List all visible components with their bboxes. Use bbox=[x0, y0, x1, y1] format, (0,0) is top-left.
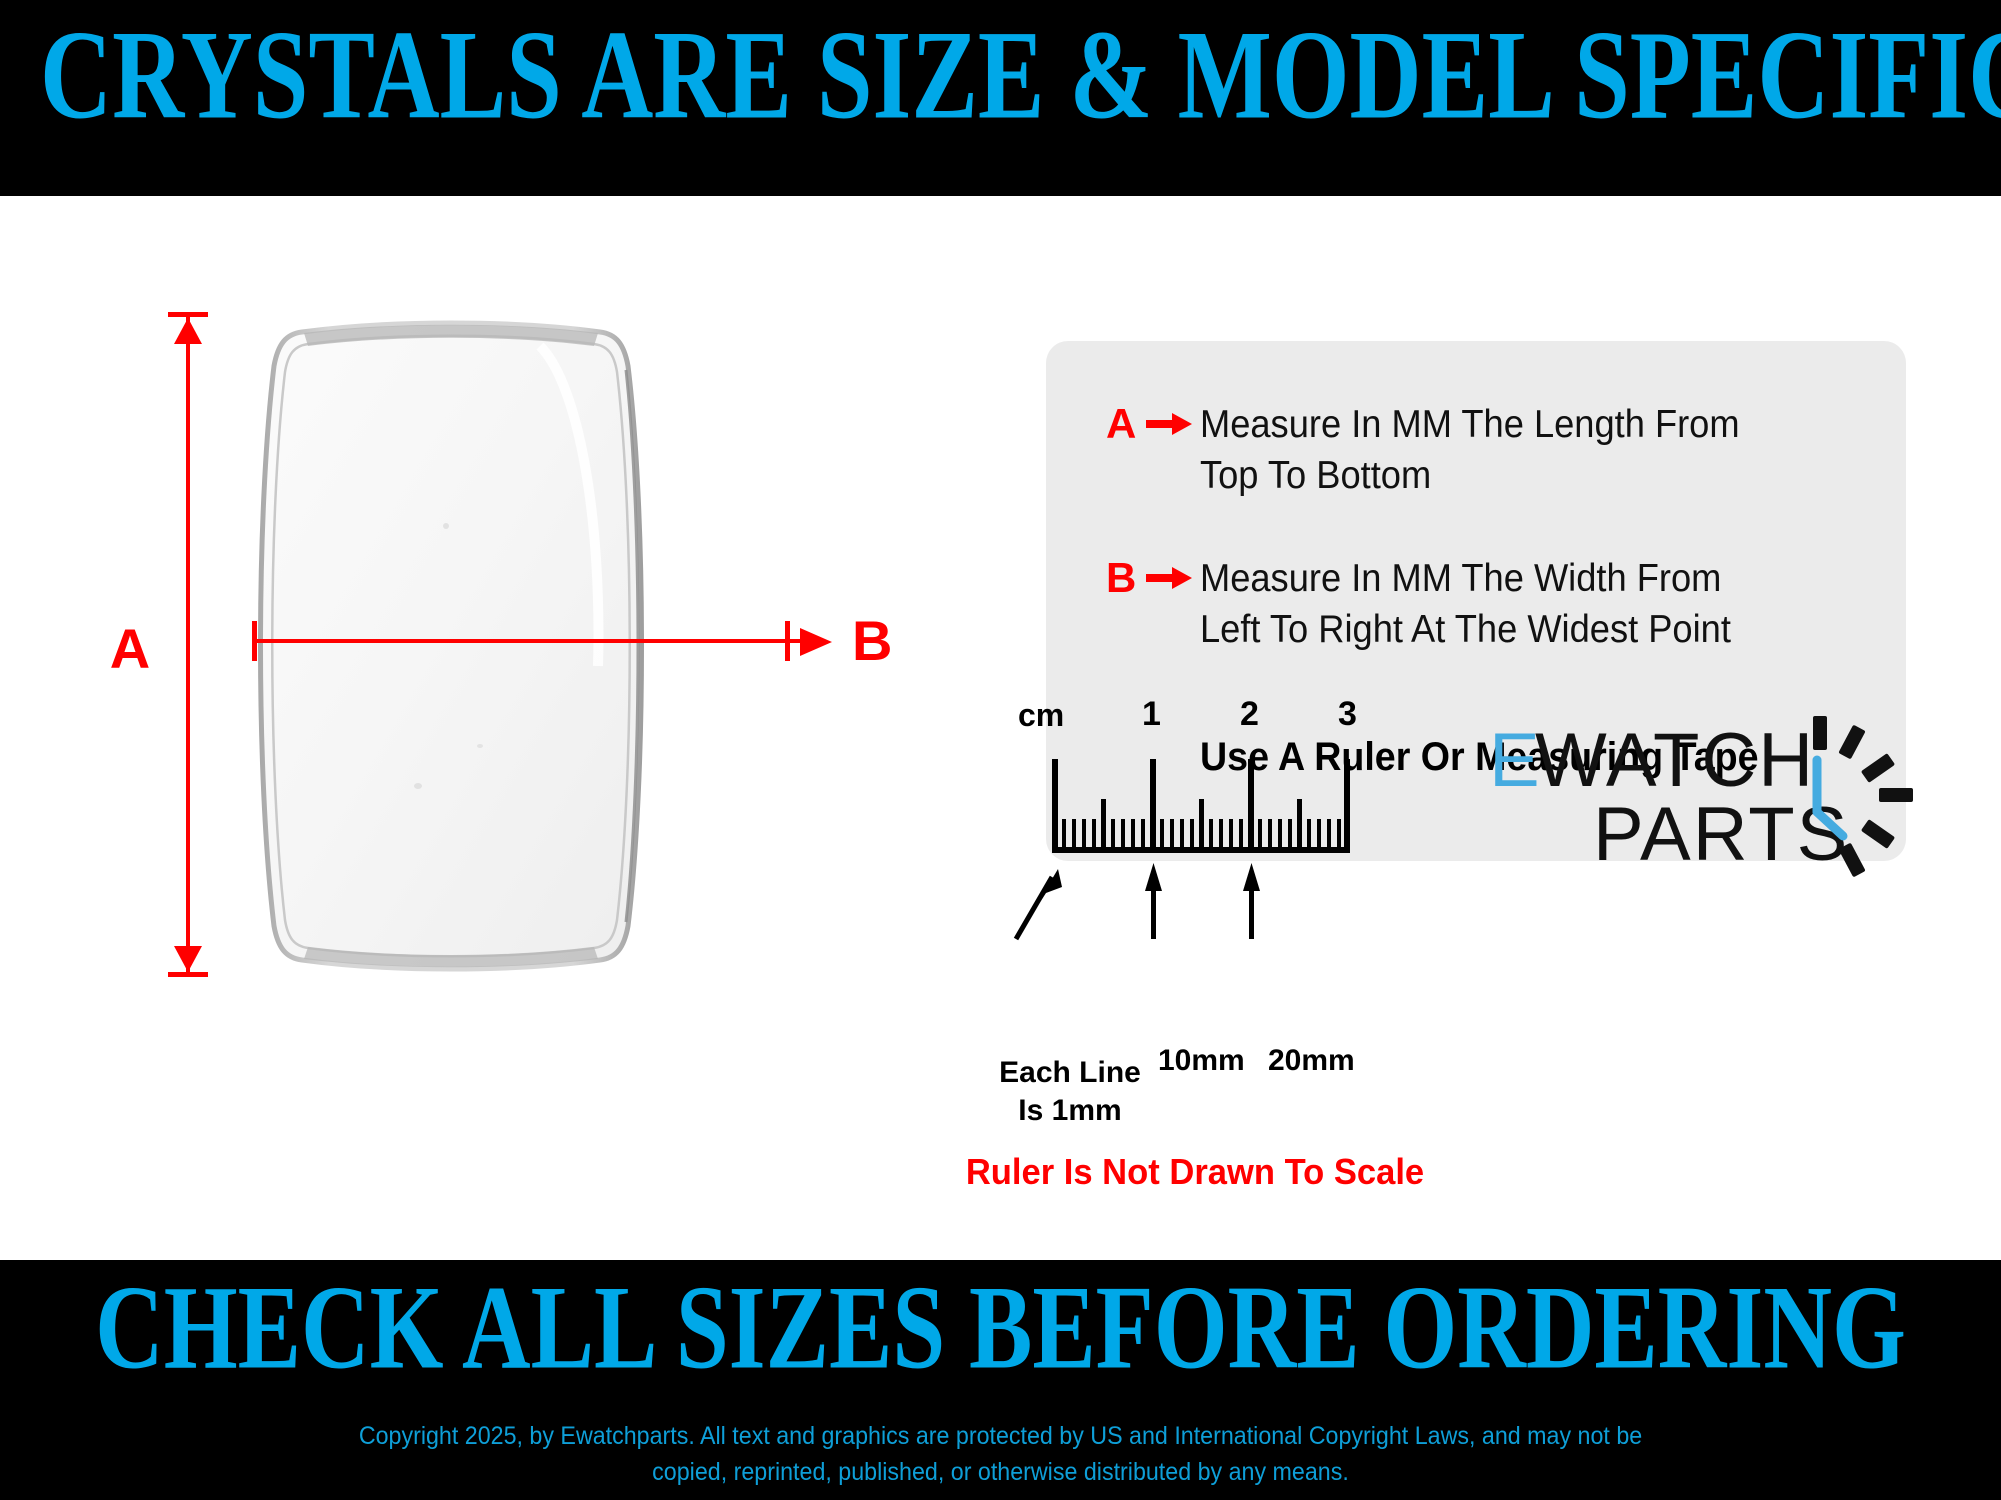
crystal-measurement-diagram: A B bbox=[100, 296, 900, 1076]
instruction-key-a: A bbox=[1106, 399, 1140, 449]
instruction-text-b-line-1: Measure In MM The Width From bbox=[1200, 553, 1731, 604]
logo-word-watch: WATCH bbox=[1535, 718, 1815, 803]
copyright-line-2: copied, reprinted, published, or otherwi… bbox=[70, 1453, 1931, 1491]
dimension-a-arrow-down-icon bbox=[174, 946, 202, 972]
ewatchparts-logo: E WATCH PARTS bbox=[1487, 708, 1927, 908]
dimension-b-line bbox=[252, 639, 804, 643]
ruler-caption-line-1: Each Line bbox=[960, 1054, 1180, 1092]
ruler-tick-label-3: 3 bbox=[1338, 695, 1357, 734]
instruction-text-a: Measure In MM The Length From Top To Bot… bbox=[1200, 399, 1780, 501]
dimension-a-label: A bbox=[100, 616, 160, 681]
arrow-right-icon-b bbox=[1140, 553, 1200, 603]
top-banner: CRYSTALS ARE SIZE & MODEL SPECIFIC bbox=[0, 0, 2001, 196]
bottom-banner: CHECK ALL SIZES BEFORE ORDERING Copyrigh… bbox=[0, 1260, 2001, 1500]
instruction-key-b: B bbox=[1106, 553, 1140, 603]
dimension-b-arrow-right-icon bbox=[800, 628, 832, 656]
dimension-a-line bbox=[186, 314, 190, 974]
main-content-area: A B A Measure In MM The Length From Top … bbox=[0, 196, 2001, 1260]
ruler-tick-label-1: 1 bbox=[1142, 695, 1161, 734]
instruction-text-a-line-2: Top To Bottom bbox=[1200, 450, 1740, 501]
arrow-right-icon-a bbox=[1140, 399, 1200, 449]
ruler-unit-label: cm bbox=[1018, 697, 1064, 734]
ruler-illustration: cm 1 2 3 bbox=[990, 701, 1410, 971]
ruler-tick-label-2: 2 bbox=[1240, 695, 1259, 734]
instruction-text-b: Measure In MM The Width From Left To Rig… bbox=[1200, 553, 1771, 655]
dimension-a-arrow-up-icon bbox=[174, 318, 202, 344]
instruction-text-a-line-1: Measure In MM The Length From bbox=[1200, 399, 1740, 450]
ruler-caption-line-2: Is 1mm bbox=[960, 1092, 1180, 1130]
instruction-text-b-line-2: Left To Right At The Widest Point bbox=[1200, 604, 1731, 655]
logo-word-parts: PARTS bbox=[1593, 792, 1849, 877]
copyright-line-1: Copyright 2025, by Ewatchparts. All text… bbox=[70, 1417, 1931, 1455]
bottom-banner-headline: CHECK ALL SIZES BEFORE ORDERING bbox=[50, 1263, 1951, 1393]
instruction-row-b: B Measure In MM The Width From Left To R… bbox=[1106, 553, 1866, 655]
ruler-scale-warning: Ruler Is Not Drawn To Scale bbox=[965, 1151, 1426, 1193]
watch-crystal-image bbox=[240, 316, 660, 976]
ruler-callout-20mm: 20mm bbox=[1268, 1044, 1355, 1078]
top-banner-headline: CRYSTALS ARE SIZE & MODEL SPECIFIC bbox=[40, 8, 1961, 145]
logo-letter-e: E bbox=[1489, 718, 1542, 803]
instruction-row-a: A Measure In MM The Length From Top To B… bbox=[1106, 399, 1866, 501]
dimension-b-label: B bbox=[852, 608, 922, 673]
